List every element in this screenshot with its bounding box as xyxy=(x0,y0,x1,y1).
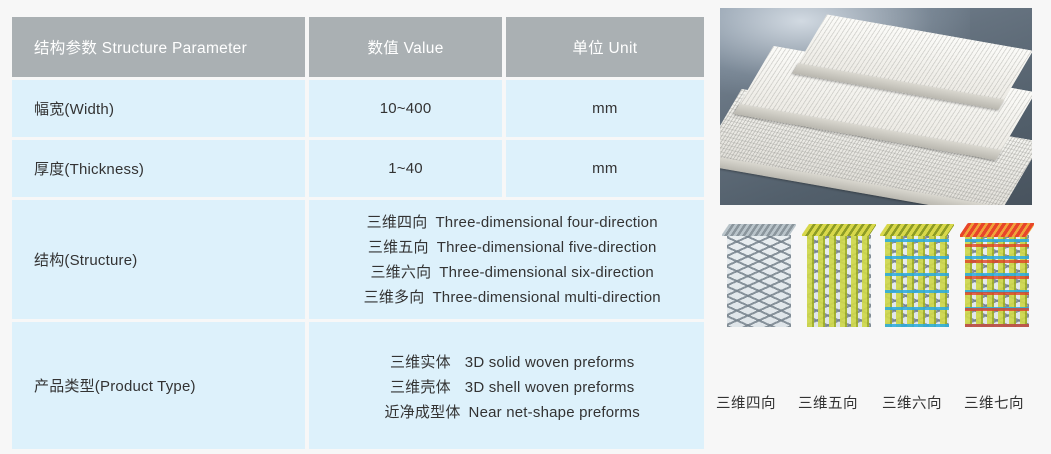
table-row-width: 幅宽(Width) 10~400 mm xyxy=(12,80,704,137)
media-panel: 三维四向 三维五向 三维六向 三维七向 xyxy=(712,0,1051,454)
diagram-label-seven-direction: 三维七向 xyxy=(964,392,1024,413)
cell-parameter-product-type: 产品类型(Product Type) xyxy=(12,322,305,449)
cell-value-width: 10~400 xyxy=(309,80,501,137)
diagram-label-four-direction: 三维四向 xyxy=(716,392,776,413)
table-header-row: 结构参数 Structure Parameter 数值 Value 单位 Uni… xyxy=(12,17,704,77)
cell-value-product-type: 三维实体3D solid woven preforms 三维壳体3D shell… xyxy=(309,322,704,449)
cell-unit-thickness: mm xyxy=(506,140,704,197)
cell-parameter-structure: 结构(Structure) xyxy=(12,200,305,319)
table-row-thickness: 厚度(Thickness) 1~40 mm xyxy=(12,140,704,197)
three-dimensional-four-direction-diagram xyxy=(722,222,796,327)
three-dimensional-seven-direction-diagram xyxy=(960,222,1034,327)
structure-line-4: 三维多向Three-dimensional multi-direction xyxy=(321,285,703,310)
header-structure-parameter: 结构参数 Structure Parameter xyxy=(12,17,305,77)
cell-unit-width: mm xyxy=(506,80,704,137)
table-row-structure: 结构(Structure) 三维四向Three-dimensional four… xyxy=(12,200,704,319)
structure-line-1: 三维四向Three-dimensional four-direction xyxy=(321,210,703,235)
three-dimensional-five-direction-diagram xyxy=(802,222,876,327)
three-dimensional-six-direction-diagram xyxy=(880,222,954,327)
woven-preform-photo xyxy=(720,8,1032,205)
spec-sheet-page: 结构参数 Structure Parameter 数值 Value 单位 Uni… xyxy=(0,0,1051,454)
header-value: 数值 Value xyxy=(309,17,501,77)
diagram-caption-row: 三维四向 三维五向 三维六向 三维七向 xyxy=(712,392,1051,418)
product-type-line-1: 三维实体3D solid woven preforms xyxy=(321,350,703,375)
diagram-label-five-direction: 三维五向 xyxy=(798,392,858,413)
cell-parameter-thickness: 厚度(Thickness) xyxy=(12,140,305,197)
structure-parameter-table: 结构参数 Structure Parameter 数值 Value 单位 Uni… xyxy=(8,14,708,452)
product-type-line-3: 近净成型体Near net-shape preforms xyxy=(321,400,703,425)
diagram-label-six-direction: 三维六向 xyxy=(882,392,942,413)
table-row-product-type: 产品类型(Product Type) 三维实体3D solid woven pr… xyxy=(12,322,704,449)
structure-line-3: 三维六向Three-dimensional six-direction xyxy=(321,260,703,285)
cell-value-structure: 三维四向Three-dimensional four-direction 三维五… xyxy=(309,200,704,319)
header-unit: 单位 Unit xyxy=(506,17,704,77)
structure-line-2: 三维五向Three-dimensional five-direction xyxy=(321,235,703,260)
cell-parameter-width: 幅宽(Width) xyxy=(12,80,305,137)
cell-value-thickness: 1~40 xyxy=(309,140,501,197)
braid-structure-diagrams xyxy=(718,222,1046,330)
product-type-line-2: 三维壳体3D shell woven preforms xyxy=(321,375,703,400)
